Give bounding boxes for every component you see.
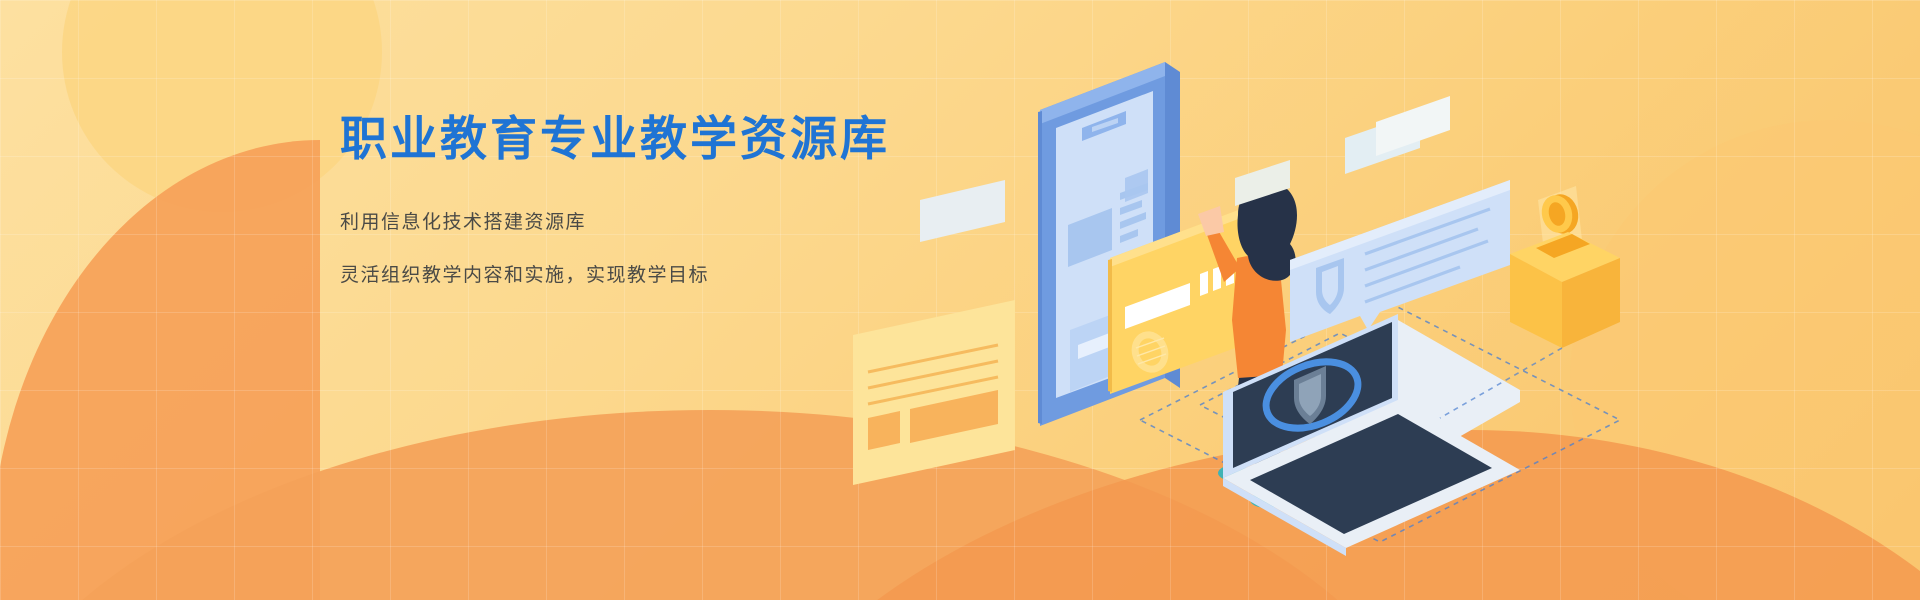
coin-box [1510,186,1620,348]
floating-card-top [1345,96,1450,174]
document-card [853,300,1015,485]
hero-illustration [820,0,1920,600]
speech-bubble-card [1290,180,1510,342]
hero-banner: 职业教育专业教学资源库 利用信息化技术搭建资源库 灵活组织教学内容和实施，实现教… [0,0,1920,600]
floating-card-left [920,180,1005,242]
